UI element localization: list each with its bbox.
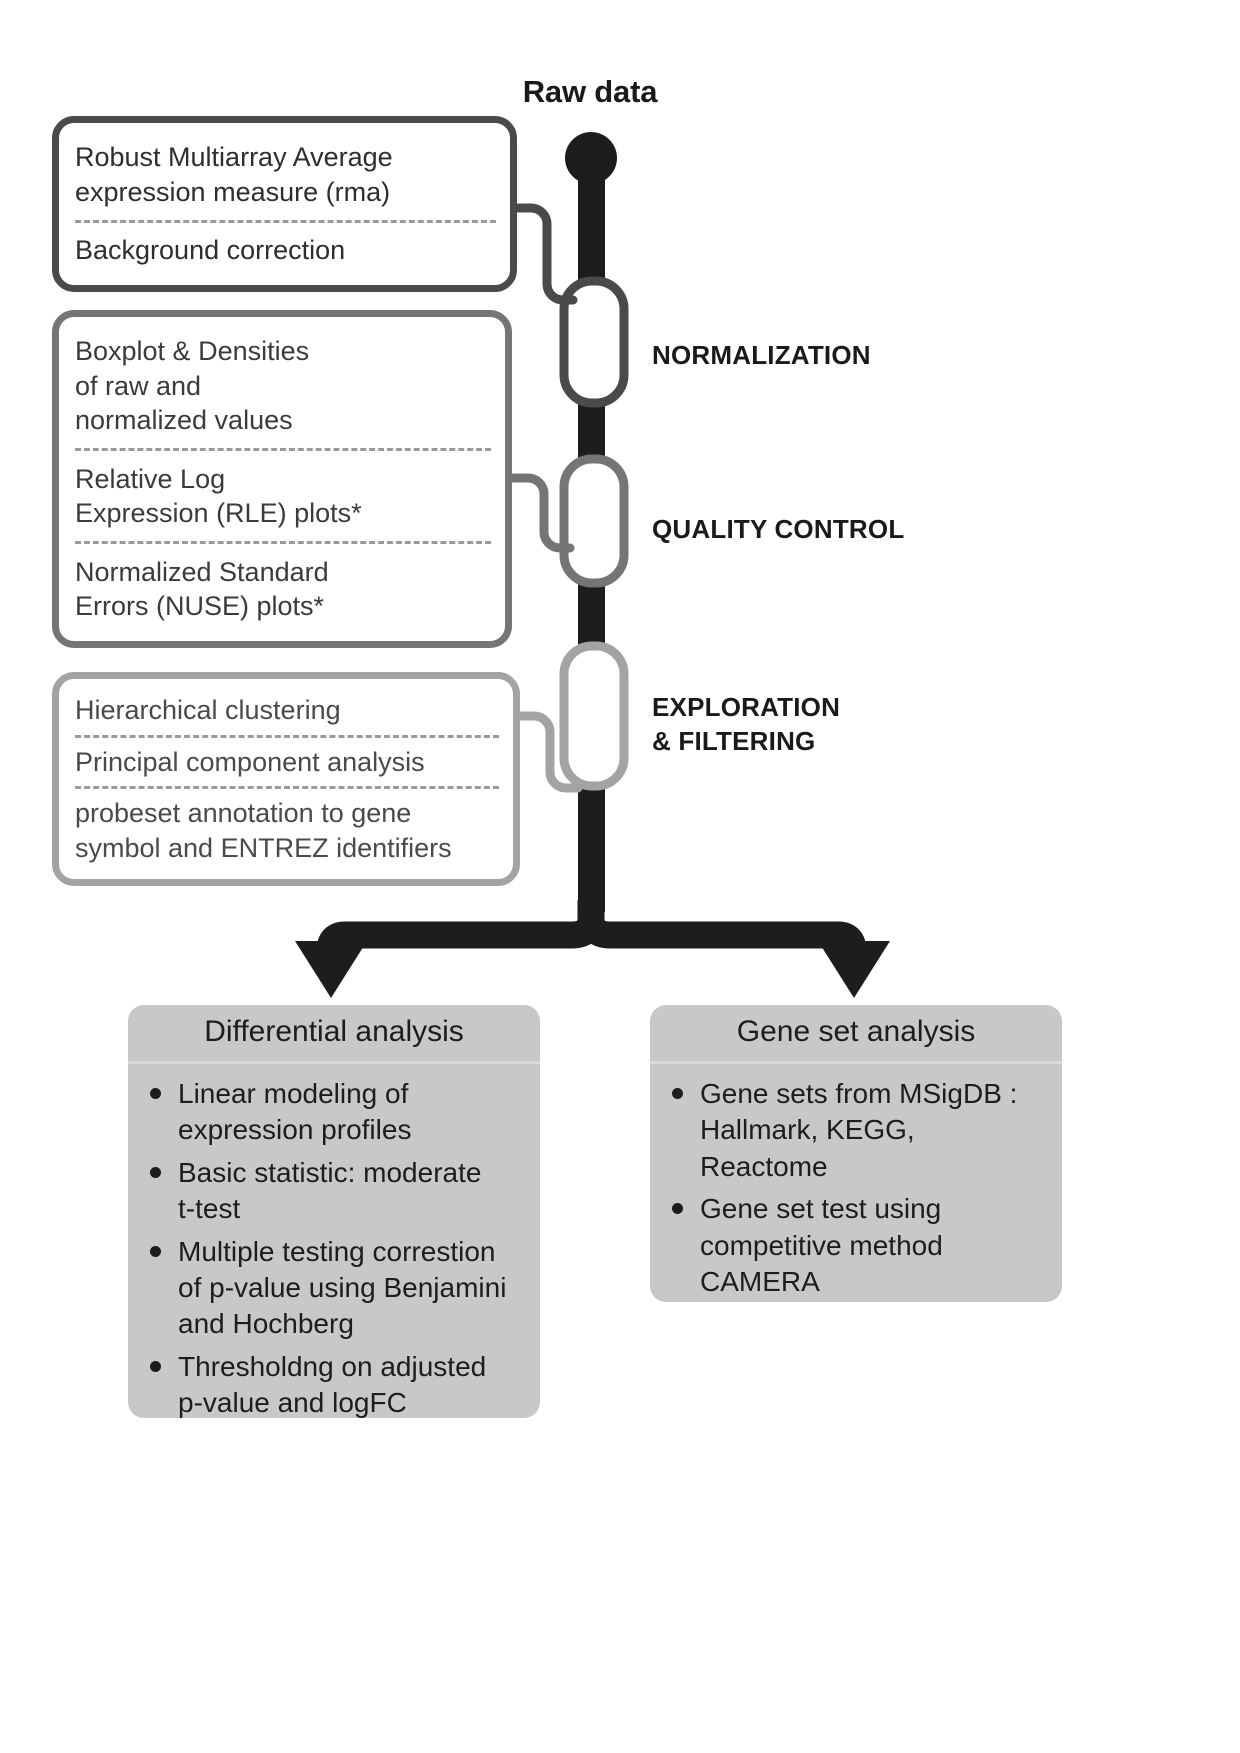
step-row: probeset annotation to gene symbol and E… (75, 792, 499, 869)
list-item: Basic statistic: moderate t-test (146, 1155, 524, 1228)
bullet-icon (150, 1361, 161, 1372)
step-row: Relative Log Expression (RLE) plots* (75, 458, 491, 535)
panel-gene-set-analysis: Gene set analysis Gene sets from MSigDB … (650, 1005, 1062, 1302)
list-item-text: Gene sets from MSigDB : Hallmark, KEGG, … (700, 1078, 1017, 1182)
bullet-icon (150, 1088, 161, 1099)
raw-data-node (565, 132, 617, 184)
step-card-quality-control: Boxplot & Densities of raw and normalize… (52, 310, 512, 648)
bullet-icon (150, 1246, 161, 1257)
stage-node-quality-control (564, 459, 624, 583)
panel-title: Gene set analysis (650, 1005, 1062, 1064)
row-divider (75, 541, 491, 544)
panel-differential-analysis: Differential analysis Linear modeling of… (128, 1005, 540, 1418)
list-item-text: Basic statistic: moderate t-test (178, 1157, 481, 1224)
stage-label-exploration-filtering: EXPLORATION & FILTERING (652, 690, 840, 759)
panel-item-list: Linear modeling of expression profiles B… (128, 1064, 540, 1444)
spine-segment-3 (578, 780, 605, 912)
step-row: Normalized Standard Errors (NUSE) plots* (75, 551, 491, 628)
row-divider (75, 448, 491, 451)
list-item-text: Gene set test using competitive method C… (700, 1193, 943, 1297)
connector-normalization (513, 208, 573, 300)
page-title: Raw data (470, 74, 710, 110)
arrowhead-right (818, 941, 890, 998)
panel-item-list: Gene sets from MSigDB : Hallmark, KEGG, … (650, 1064, 1062, 1322)
bullet-icon (672, 1203, 683, 1214)
step-row: Robust Multiarray Average expression mea… (75, 136, 496, 213)
list-item-text: Linear modeling of expression profiles (178, 1078, 411, 1145)
list-item: Thresholdng on adjusted p-value and logF… (146, 1349, 524, 1422)
row-divider (75, 735, 499, 738)
step-row: Boxplot & Densities of raw and normalize… (75, 330, 491, 442)
row-divider (75, 220, 496, 223)
fork-arrow-left (330, 900, 591, 972)
list-item-text: Multiple testing correstion of p-value u… (178, 1236, 506, 1340)
fork-arrow-right (591, 900, 853, 972)
list-item: Gene set test using competitive method C… (668, 1191, 1046, 1300)
list-item: Multiple testing correstion of p-value u… (146, 1234, 524, 1343)
stage-node-exploration (564, 646, 624, 786)
list-item-text: Thresholdng on adjusted p-value and logF… (178, 1351, 486, 1418)
step-row: Principal component analysis (75, 741, 499, 784)
list-item: Gene sets from MSigDB : Hallmark, KEGG, … (668, 1076, 1046, 1185)
panel-title: Differential analysis (128, 1005, 540, 1064)
step-card-exploration: Hierarchical clustering Principal compon… (52, 672, 520, 886)
bullet-icon (150, 1167, 161, 1178)
list-item: Linear modeling of expression profiles (146, 1076, 524, 1149)
arrowhead-left (295, 941, 367, 998)
step-row: Hierarchical clustering (75, 689, 499, 732)
row-divider (75, 786, 499, 789)
spine-segment-2 (578, 578, 605, 650)
step-row: Background correction (75, 229, 496, 272)
stage-label-normalization: NORMALIZATION (652, 338, 871, 372)
bullet-icon (672, 1088, 683, 1099)
stage-label-quality-control: QUALITY CONTROL (652, 512, 904, 546)
step-card-normalization: Robust Multiarray Average expression mea… (52, 116, 517, 292)
